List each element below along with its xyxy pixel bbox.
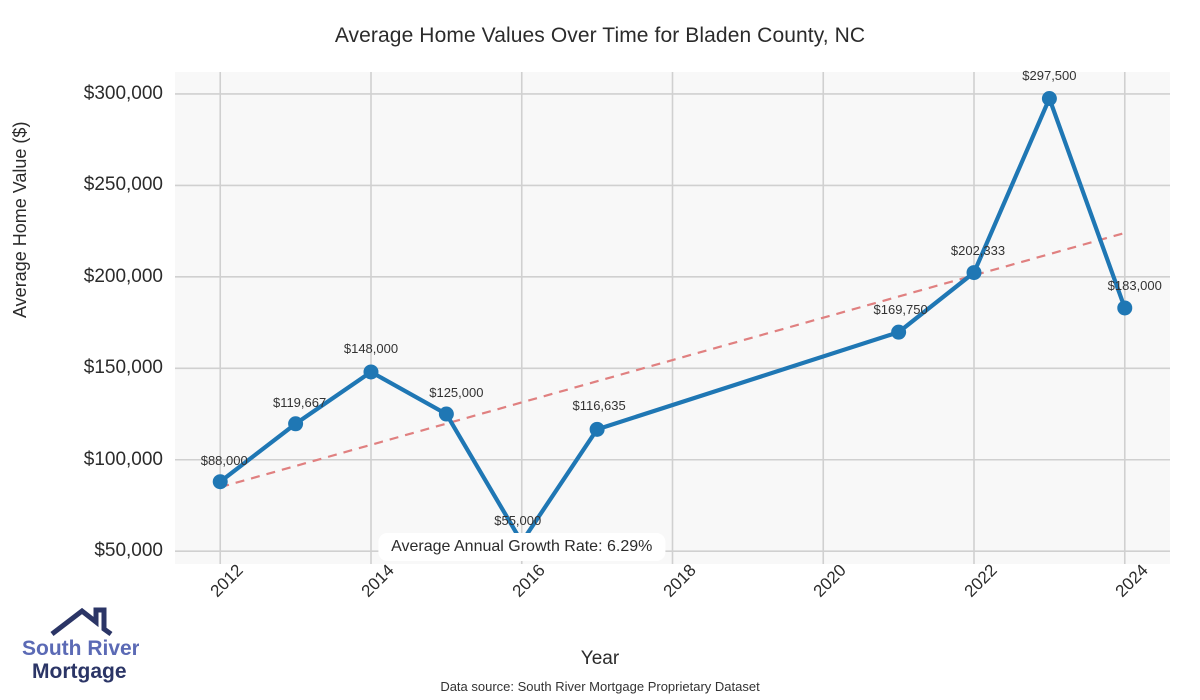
- data-point-marker[interactable]: [1042, 91, 1057, 106]
- logo-text-line1: South River: [22, 637, 139, 660]
- data-point-marker[interactable]: [213, 474, 228, 489]
- data-point-marker[interactable]: [967, 265, 982, 280]
- south-river-mortgage-logo: South River Mortgage: [14, 600, 139, 684]
- house-roof-icon: [52, 610, 111, 634]
- data-point-marker[interactable]: [590, 422, 605, 437]
- data-point-marker[interactable]: [363, 364, 378, 379]
- y-axis-tick-labels: $50,000$100,000$150,000$200,000$250,000$…: [0, 72, 163, 564]
- y-axis-tick: $300,000: [84, 83, 163, 105]
- y-axis-tick: $100,000: [84, 449, 163, 471]
- plot-svg: [175, 72, 1170, 564]
- data-source-note: Data source: South River Mortgage Propri…: [0, 679, 1200, 694]
- x-axis-tick-labels: 2012201420162018202020222024: [175, 564, 1170, 634]
- x-axis-tick: 2020: [810, 561, 851, 602]
- y-axis-tick: $250,000: [84, 174, 163, 196]
- y-axis-tick: $150,000: [84, 357, 163, 379]
- x-axis-title: Year: [0, 648, 1200, 670]
- data-point-marker[interactable]: [439, 407, 454, 422]
- plot-area: $88,000$119,667$148,000$125,000$55,000$1…: [175, 72, 1170, 564]
- data-point-marker[interactable]: [288, 416, 303, 431]
- x-axis-tick: 2014: [358, 561, 399, 602]
- chart-title: Average Home Values Over Time for Bladen…: [0, 24, 1200, 48]
- chart-container: Average Home Values Over Time for Bladen…: [0, 0, 1200, 700]
- x-axis-tick: 2016: [508, 561, 549, 602]
- x-axis-tick: 2022: [961, 561, 1002, 602]
- data-point-marker[interactable]: [891, 325, 906, 340]
- y-axis-tick: $50,000: [94, 540, 163, 562]
- x-axis-tick: 2012: [207, 561, 248, 602]
- x-axis-tick: 2024: [1111, 561, 1152, 602]
- x-axis-tick: 2018: [659, 561, 700, 602]
- y-axis-tick: $200,000: [84, 266, 163, 288]
- growth-rate-annotation: Average Annual Growth Rate: 6.29%: [378, 533, 665, 561]
- data-point-marker[interactable]: [1117, 300, 1132, 315]
- logo-svg: South River Mortgage: [14, 600, 139, 684]
- logo-text-line2: Mortgage: [32, 660, 127, 683]
